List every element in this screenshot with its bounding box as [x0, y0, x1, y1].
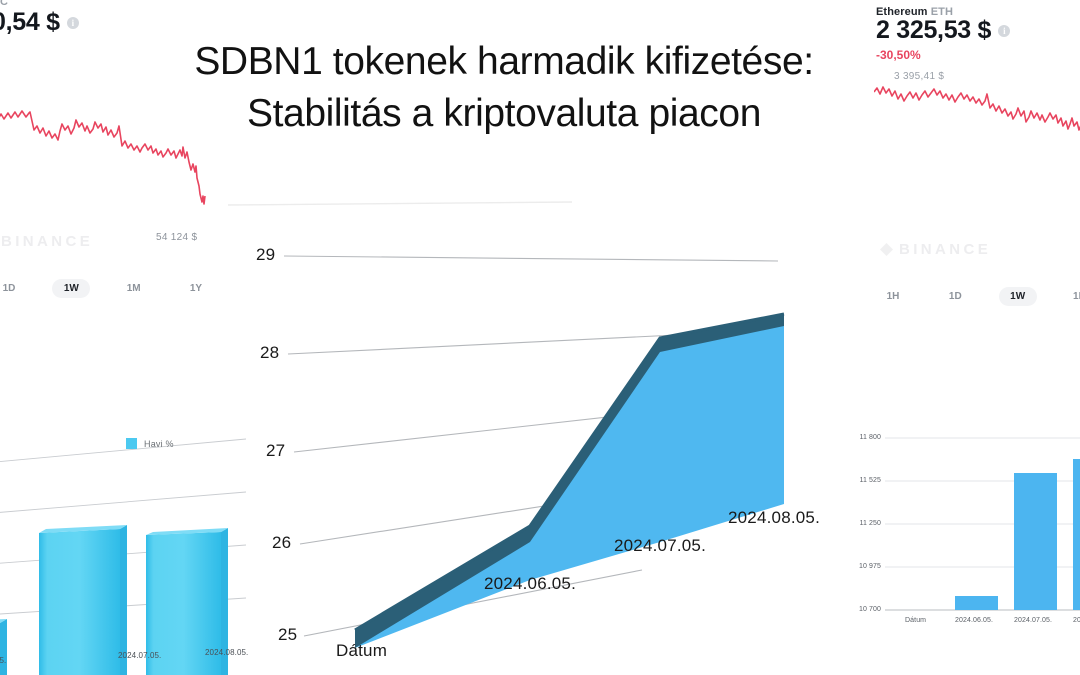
- bar-item: [955, 596, 998, 610]
- range-tab-1d[interactable]: 1D: [0, 279, 28, 298]
- bar2d-xlabel-3: 2024.08.05.: [1073, 617, 1080, 624]
- chart-bottom-right-bar: 11 800 11 525 11 250 10 975 10 700 Dátum…: [833, 423, 1080, 635]
- page-title-line-1: SDBN1 tokenek harmadik kifizetése:: [104, 36, 904, 88]
- legend-swatch-icon: [126, 438, 137, 449]
- bar2d-xlabel-1: 2024.06.05.: [955, 617, 993, 624]
- ticker-left-low-label: 54 124 $: [156, 232, 197, 243]
- ticker-right-sparkline: [874, 82, 1080, 192]
- bar-item: [1014, 473, 1057, 610]
- area-xlabel-2: 2024.08.05.: [728, 508, 820, 528]
- ticker-left-price: 0,54 $: [0, 8, 60, 37]
- area-xlabel-origin: Dátum: [336, 641, 387, 661]
- bar-item: [39, 525, 127, 675]
- bar2d-ytick-11525: 11 525: [841, 477, 881, 484]
- range-tab-1d[interactable]: 1D: [936, 287, 974, 306]
- area-xlabel-1: 2024.07.05.: [614, 536, 706, 556]
- bar2d-xlabel-2: 2024.07.05.: [1014, 617, 1052, 624]
- binance-diamond-icon: [880, 243, 893, 256]
- ticker-left-price-row: 0,54 $ i: [0, 8, 79, 37]
- ticker-right-range-tabs[interactable]: 1H 1D 1W 1M: [874, 287, 1080, 306]
- area-ytick-29: 29: [256, 245, 275, 265]
- bar2d-ytick-10700: 10 700: [841, 606, 881, 613]
- area-ytick-25: 25: [278, 625, 297, 645]
- bar-item: [1073, 459, 1080, 610]
- bar2d-ytick-11800: 11 800: [841, 434, 881, 441]
- area-chart-plot: [222, 186, 802, 675]
- range-tab-1w[interactable]: 1W: [52, 279, 90, 298]
- bar3d-xlabel-0: 2024.06.05.: [0, 656, 6, 665]
- range-tab-1m[interactable]: 1M: [115, 279, 153, 298]
- bar2d-ytick-11250: 11 250: [841, 520, 881, 527]
- page-title-line-2: Stabilitás a kriptovaluta piacon: [104, 88, 904, 140]
- range-tab-1h[interactable]: 1H: [874, 287, 912, 306]
- slide-canvas: C 0,54 $ i BINANCE 54 124 $ 1D 1W 1M 1Y …: [0, 0, 1080, 675]
- area-ytick-27: 27: [266, 441, 285, 461]
- binance-watermark-right: BINANCE: [880, 241, 991, 258]
- legend-label: Havi %: [144, 439, 174, 449]
- range-tab-1w[interactable]: 1W: [999, 287, 1037, 306]
- bar3d-xlabel-1: 2024.07.05.: [118, 651, 161, 660]
- chart-legend: Havi %: [126, 438, 174, 449]
- range-tab-1m[interactable]: 1M: [1061, 287, 1080, 306]
- range-tab-1y[interactable]: 1Y: [177, 279, 215, 298]
- bar2d-xlabel-0: Dátum: [905, 617, 926, 624]
- ticker-left-range-tabs[interactable]: 1D 1W 1M 1Y: [0, 279, 215, 298]
- area-xlabel-0: 2024.06.05.: [484, 574, 576, 594]
- info-icon[interactable]: i: [67, 17, 79, 29]
- bar2d-plot: [833, 423, 1080, 635]
- area-ytick-28: 28: [260, 343, 279, 363]
- info-icon[interactable]: i: [998, 25, 1010, 37]
- area-ytick-26: 26: [272, 533, 291, 553]
- chart-center-3d-area: 29 28 27 26 25 Dátum 2024.06.05. 2024.07…: [222, 186, 802, 675]
- bar2d-ytick-10975: 10 975: [841, 563, 881, 570]
- bar-item: [0, 619, 7, 675]
- binance-watermark-left: BINANCE: [0, 233, 93, 250]
- ticker-left-symbol: C: [0, 0, 8, 8]
- page-title: SDBN1 tokenek harmadik kifizetése: Stabi…: [104, 36, 904, 140]
